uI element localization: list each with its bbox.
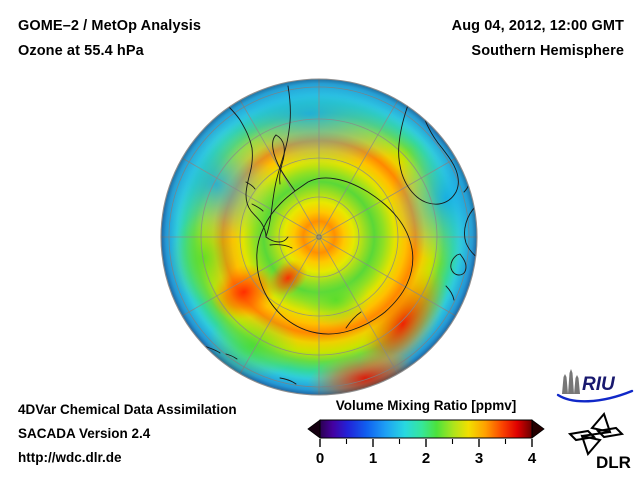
limb-shading — [161, 79, 477, 395]
colorbar-tick-3: 3 — [475, 450, 483, 467]
colorbar-tick-1: 1 — [369, 450, 377, 467]
hemisphere-label: Southern Hemisphere — [324, 39, 624, 64]
orthographic-projection — [160, 78, 478, 396]
colorbar-tick-4: 4 — [528, 450, 537, 467]
colorbar-scale: 0 1 2 3 4 — [306, 417, 546, 479]
riu-wordmark: RIU — [582, 374, 616, 395]
colorbar-tick-labels: 0 1 2 3 4 — [316, 450, 537, 467]
header-left-block: GOME–2 / MetOp Analysis Ozone at 55.4 hP… — [18, 14, 358, 64]
footer-credits-block: 4DVar Chemical Data Assimilation SACADA … — [18, 398, 308, 470]
riu-logo-graphic: RIU — [556, 368, 634, 404]
product-subtitle: Ozone at 55.4 hPa — [18, 39, 358, 64]
riu-tower-icon — [562, 369, 580, 394]
colorbar-under-arrow — [308, 420, 320, 438]
colorbar-major-ticks — [320, 439, 532, 447]
coastline-madagascar-north — [448, 138, 462, 149]
timestamp-label: Aug 04, 2012, 12:00 GMT — [324, 14, 624, 39]
colorbar-gradient — [320, 420, 532, 438]
dlr-logo: DLR — [562, 410, 634, 472]
website-url[interactable]: http://wdc.dlr.de — [18, 446, 308, 470]
dlr-logo-graphic: DLR — [562, 410, 634, 472]
ozone-globe-map — [160, 78, 478, 396]
colorbar-over-arrow — [532, 420, 544, 438]
colorbar-tick-2: 2 — [422, 450, 430, 467]
colorbar-title: Volume Mixing Ratio [ppmv] — [306, 398, 546, 413]
dlr-bird-icon — [570, 414, 622, 454]
assimilation-method-label: 4DVar Chemical Data Assimilation — [18, 398, 308, 422]
colorbar-tick-0: 0 — [316, 450, 324, 467]
header-right-block: Aug 04, 2012, 12:00 GMT Southern Hemisph… — [324, 14, 624, 64]
version-label: SACADA Version 2.4 — [18, 422, 308, 446]
field-detail-layer — [160, 78, 478, 396]
dlr-wordmark: DLR — [596, 453, 631, 472]
instrument-title: GOME–2 / MetOp Analysis — [18, 14, 358, 39]
colorbar-block: Volume Mixing Ratio [ppmv] — [306, 398, 546, 479]
riu-logo: RIU — [556, 368, 634, 404]
